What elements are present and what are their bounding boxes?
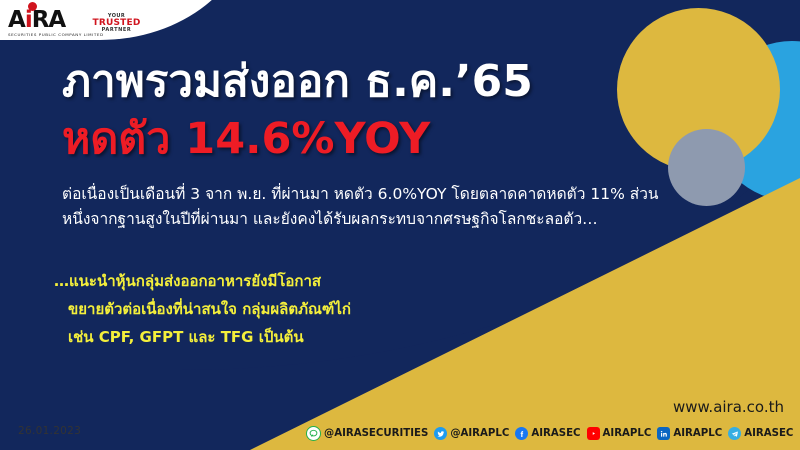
linkedin-icon xyxy=(657,427,670,440)
social-handle-linkedin: AIRAPLC xyxy=(673,428,722,439)
tagline-partner: PARTNER xyxy=(102,28,132,33)
website-url[interactable]: www.aira.co.th xyxy=(673,398,784,416)
recommendation-line-3: เช่น CPF, GFPT และ TFG เป็นต้น xyxy=(54,324,574,352)
logo-mark: AiRA SECURITIES PUBLIC COMPANY LIMITED xyxy=(8,9,84,37)
social-handle-facebook: AIRASEC xyxy=(531,428,580,439)
social-handle-line: @AIRASECURITIES xyxy=(324,428,428,439)
social-link-youtube[interactable]: AIRAPLC xyxy=(587,427,652,440)
social-link-twitter[interactable]: @AIRAPLC xyxy=(434,427,509,440)
social-link-linkedin[interactable]: AIRAPLC xyxy=(657,427,722,440)
youtube-icon xyxy=(587,427,600,440)
publish-date: 26.01.2023 xyxy=(18,425,81,437)
headline-secondary: หดตัว 14.6%YOY xyxy=(62,116,642,163)
social-link-line[interactable]: @AIRASECURITIES xyxy=(306,426,428,441)
body-paragraph: ต่อเนื่องเป็นเดือนที่ 3 จาก พ.ย. ที่ผ่าน… xyxy=(62,182,662,232)
social-handle-youtube: AIRAPLC xyxy=(603,428,652,439)
social-links-bar: @AIRASECURITIES @AIRAPLC AIRASEC AIRAPLC xyxy=(306,426,793,441)
logo-wordmark: AiRA xyxy=(8,9,65,32)
recommendation-block: …แนะนำหุ้นกลุ่มส่งออกอาหารยังมีโอกาส ขยา… xyxy=(54,268,574,351)
line-icon xyxy=(306,426,321,441)
logo-letters-ra: RA xyxy=(32,7,66,33)
recommendation-line-1: …แนะนำหุ้นกลุ่มส่งออกอาหารยังมีโอกาส xyxy=(54,268,574,296)
headline-primary: ภาพรวมส่งออก ธ.ค.’65 xyxy=(62,58,642,106)
logo-dot-icon xyxy=(28,2,37,11)
logo-tagline: YOUR TRUSTED PARTNER xyxy=(92,14,140,33)
logo-letter-a: A xyxy=(8,7,25,33)
social-handle-telegram: AIRASEC xyxy=(744,428,793,439)
infographic-canvas: AiRA SECURITIES PUBLIC COMPANY LIMITED Y… xyxy=(0,0,800,450)
logo-subtitle: SECURITIES PUBLIC COMPANY LIMITED xyxy=(8,33,104,37)
facebook-icon xyxy=(515,427,528,440)
social-link-telegram[interactable]: AIRASEC xyxy=(728,427,793,440)
social-handle-twitter: @AIRAPLC xyxy=(450,428,509,439)
telegram-icon xyxy=(728,427,741,440)
decorative-circle-gray xyxy=(668,129,745,206)
recommendation-line-2: ขยายตัวต่อเนื่องที่น่าสนใจ กลุ่มผลิตภัณฑ… xyxy=(54,296,574,324)
twitter-icon xyxy=(434,427,447,440)
social-link-facebook[interactable]: AIRASEC xyxy=(515,427,580,440)
aira-logo: AiRA SECURITIES PUBLIC COMPANY LIMITED Y… xyxy=(8,5,158,41)
